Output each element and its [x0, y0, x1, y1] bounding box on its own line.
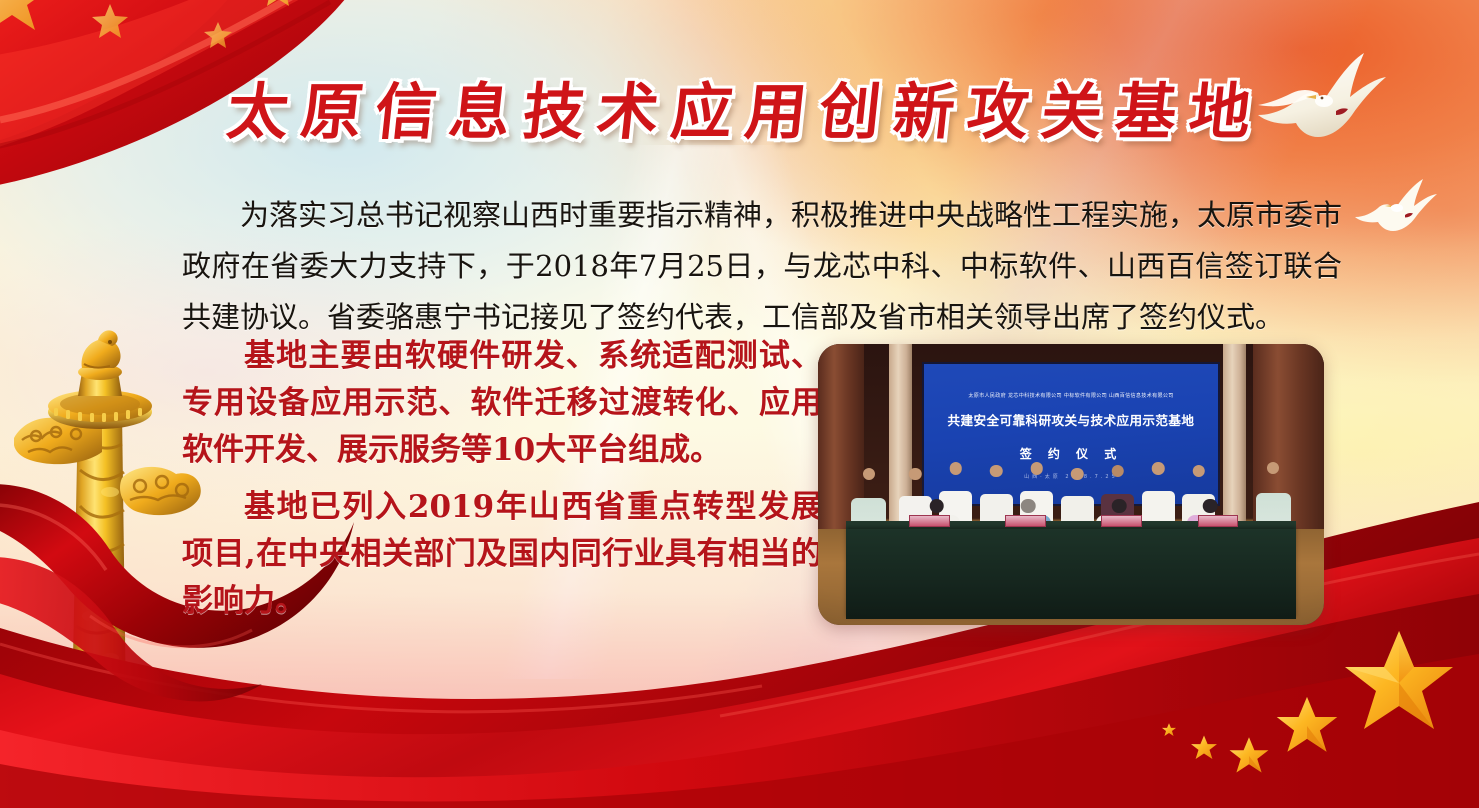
photo-vignette	[818, 344, 1324, 625]
platforms-paragraph: 基地主要由软硬件研发、系统适配测试、专用设备应用示范、软件迁移过渡转化、应用软件…	[182, 333, 822, 474]
page-title: 太原信息技术应用创新攻关基地	[210, 62, 1268, 151]
huabiao-column-icon	[14, 320, 204, 710]
impact-paragraph: 基地已列入2019年山西省重点转型发展项目,在中央相关部门及国内同行业具有相当的…	[182, 484, 822, 625]
intro-paragraph: 为落实习总书记视察山西时重要指示精神，积极推进中央战略性工程实施，太原市委市政府…	[182, 190, 1342, 343]
highlight-paragraph-column: 基地主要由软硬件研发、系统适配测试、专用设备应用示范、软件迁移过渡转化、应用软件…	[182, 333, 822, 625]
poster-canvas: 太原信息技术应用创新攻关基地 为落实习总书记视察山西时重要指示精神，积极推进中央…	[0, 0, 1479, 808]
title-block: 太原信息技术应用创新攻关基地	[0, 62, 1479, 151]
photo-inner: 太原市人民政府 龙芯中科技术有限公司 中标软件有限公司 山西百信信息技术有限公司…	[818, 344, 1324, 625]
dove-icon	[1355, 175, 1441, 241]
signing-ceremony-photo: 太原市人民政府 龙芯中科技术有限公司 中标软件有限公司 山西百信信息技术有限公司…	[818, 344, 1324, 625]
